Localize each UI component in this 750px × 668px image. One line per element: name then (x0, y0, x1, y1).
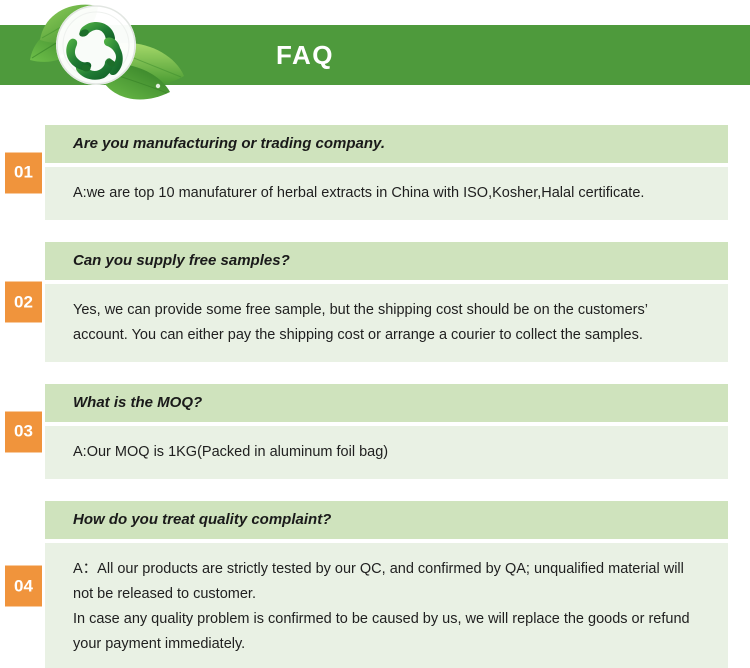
faq-number-badge: 01 (5, 152, 42, 193)
faq-answer-paragraph: Yes, we can provide some free sample, bu… (73, 298, 702, 348)
faq-number-badge: 04 (5, 566, 42, 607)
faq-answer-paragraph: A：All our products are strictly tested b… (73, 557, 702, 607)
faq-number-badge: 03 (5, 411, 42, 452)
page-header: FAQ (0, 0, 750, 125)
faq-question-text: Are you manufacturing or trading company… (73, 134, 385, 154)
faq-question-text: Can you supply free samples? (73, 251, 290, 271)
faq-question[interactable]: What is the MOQ? (45, 384, 728, 422)
faq-item: 04 How do you treat quality complaint? A… (0, 501, 750, 668)
faq-answer: Yes, we can provide some free sample, bu… (45, 284, 728, 362)
faq-answer: A:we are top 10 manufaturer of herbal ex… (45, 167, 728, 220)
faq-item: 01 Are you manufacturing or trading comp… (0, 125, 750, 220)
faq-number-badge: 02 (5, 282, 42, 323)
faq-page: FAQ 01 Are you manufacturing or trading … (0, 0, 750, 668)
faq-list: 01 Are you manufacturing or trading comp… (0, 125, 750, 668)
faq-question[interactable]: Can you supply free samples? (45, 242, 728, 280)
faq-answer-paragraph: A:Our MOQ is 1KG(Packed in aluminum foil… (73, 440, 702, 465)
faq-question[interactable]: Are you manufacturing or trading company… (45, 125, 728, 163)
faq-answer: A:Our MOQ is 1KG(Packed in aluminum foil… (45, 426, 728, 479)
faq-item: 03 What is the MOQ? A:Our MOQ is 1KG(Pac… (0, 384, 750, 479)
faq-question-text: How do you treat quality complaint? (73, 510, 331, 530)
faq-answer-paragraph: A:we are top 10 manufaturer of herbal ex… (73, 181, 702, 206)
faq-answer-paragraph: In case any quality problem is confirmed… (73, 607, 702, 657)
faq-question-text: What is the MOQ? (73, 393, 202, 413)
page-title: FAQ (276, 38, 334, 72)
company-logo (18, 0, 218, 112)
faq-item: 02 Can you supply free samples? Yes, we … (0, 242, 750, 362)
leaf-circle-logo-icon (18, 0, 218, 112)
faq-question[interactable]: How do you treat quality complaint? (45, 501, 728, 539)
faq-answer: A：All our products are strictly tested b… (45, 543, 728, 668)
